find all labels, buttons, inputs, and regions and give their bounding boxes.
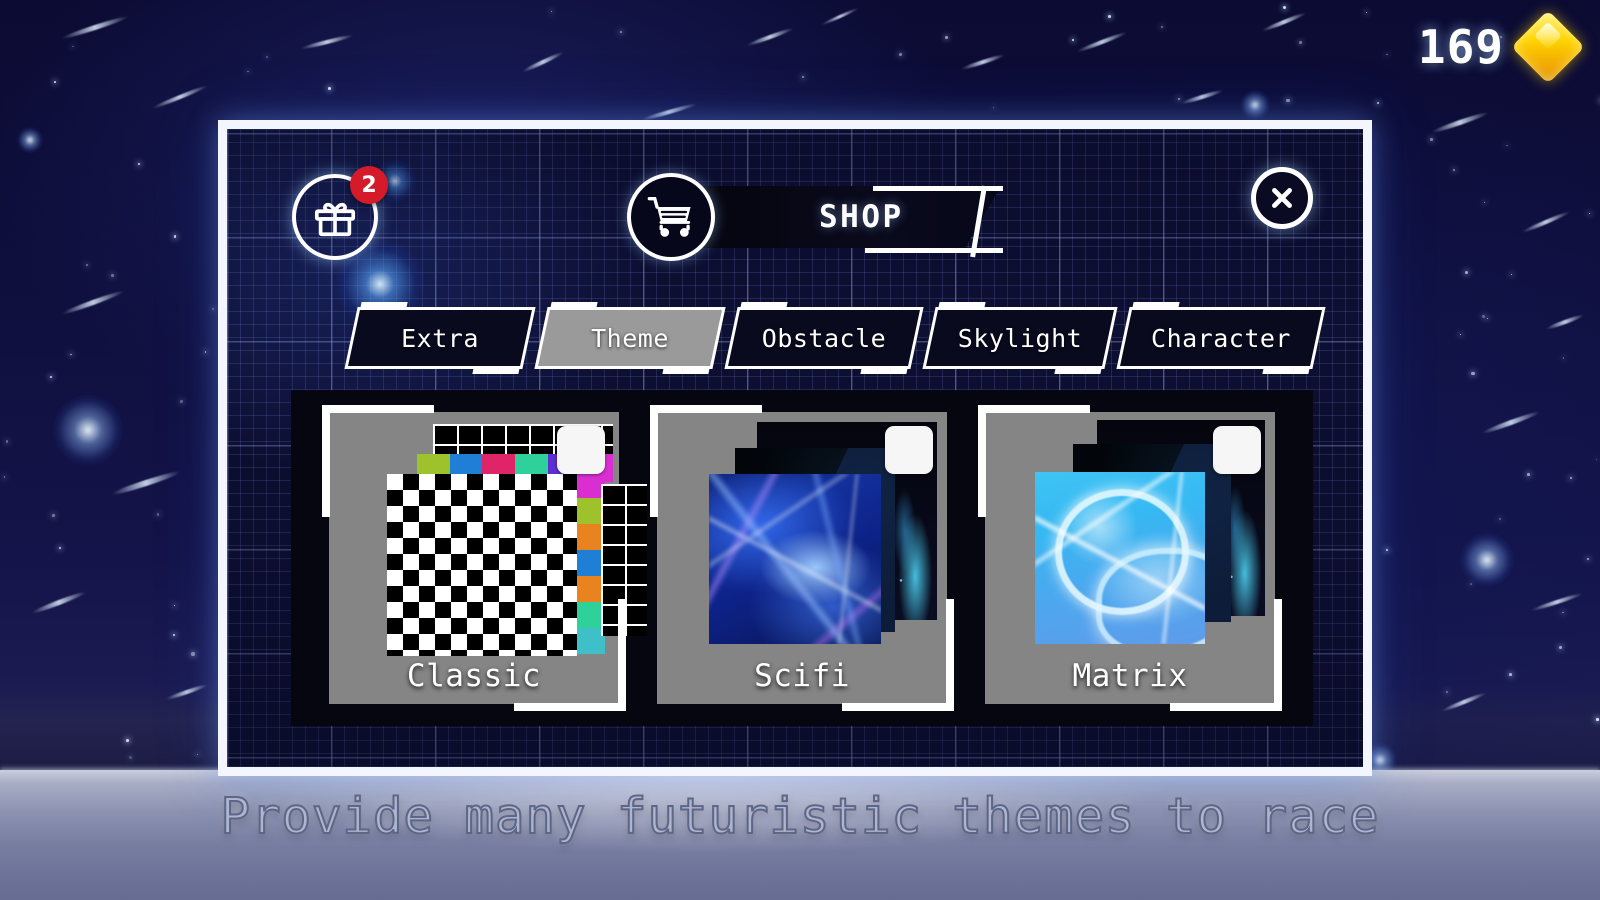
star-glow: [1460, 533, 1514, 587]
currency-display: 169: [1418, 20, 1574, 74]
gem-diamond-icon: [1511, 10, 1585, 84]
item-select-box[interactable]: [885, 426, 933, 474]
corner-bracket: [514, 703, 626, 711]
star-streak: [300, 34, 353, 51]
tab-skylight[interactable]: Skylight: [929, 307, 1111, 369]
star-streak: [31, 590, 87, 615]
corner-bracket: [946, 599, 954, 711]
preview-layer-checkerboard: [387, 474, 577, 656]
corner-bracket: [618, 599, 626, 711]
tab-label: Theme: [541, 307, 719, 369]
star-streak: [61, 14, 129, 40]
category-tabs: Extra Theme Obstacle Skylight Character: [351, 307, 1331, 369]
tab-label: Character: [1123, 307, 1319, 369]
star-streak: [1481, 410, 1541, 436]
shop-title-banner: SHOP: [701, 186, 1001, 248]
corner-bracket: [978, 405, 1090, 413]
corner-bracket: [322, 405, 330, 517]
star-streak: [1521, 210, 1570, 234]
corner-bracket: [650, 405, 658, 517]
star-streak: [151, 84, 208, 110]
star-streak: [641, 102, 698, 122]
caption-text: Provide many futuristic themes to race: [0, 788, 1600, 845]
preview-layer-plasma: [1035, 472, 1205, 644]
items-stage: Classic Scifi: [291, 390, 1313, 726]
corner-bracket: [322, 405, 434, 413]
item-select-box[interactable]: [557, 426, 605, 474]
nebula-streaks: [709, 474, 881, 644]
corner-bracket: [1170, 703, 1282, 711]
shopping-cart-button[interactable]: [627, 173, 715, 261]
tab-obstacle[interactable]: Obstacle: [731, 307, 917, 369]
corner-bracket: [1274, 599, 1282, 711]
gift-icon: [312, 194, 358, 240]
tab-label: Skylight: [929, 307, 1111, 369]
star-streak: [1076, 30, 1128, 53]
star-streak: [61, 289, 125, 316]
tab-label: Obstacle: [731, 307, 917, 369]
star-streak: [1441, 691, 1487, 713]
shop-header: SHOP: [627, 173, 1001, 261]
gift-button[interactable]: 2: [292, 174, 378, 260]
item-name: Classic: [329, 658, 619, 694]
star-streak: [111, 469, 181, 497]
star-streak: [1546, 313, 1585, 330]
item-name: Scifi: [657, 658, 947, 694]
star-streak: [166, 683, 209, 701]
shop-title: SHOP: [819, 199, 904, 235]
close-x-icon: [1269, 185, 1295, 211]
star-glow: [53, 395, 123, 465]
star-streak: [1180, 89, 1223, 106]
star-glow: [17, 127, 43, 153]
star-glow: [1240, 90, 1270, 120]
corner-bracket: [978, 405, 986, 517]
item-card-classic[interactable]: Classic: [329, 412, 619, 704]
item-card-scifi[interactable]: Scifi: [657, 412, 947, 704]
close-button[interactable]: [1251, 167, 1313, 229]
corner-bracket: [842, 703, 954, 711]
shop-panel: 2 SHOP: [218, 120, 1372, 776]
preview-layer-nebula: [709, 474, 881, 644]
item-card-matrix[interactable]: Matrix: [985, 412, 1275, 704]
items-row: Classic Scifi: [291, 390, 1313, 726]
plasma-streaks: [1035, 472, 1205, 644]
banner-edge-bottom: [865, 248, 1003, 253]
star-streak: [1531, 592, 1584, 612]
star-streak: [821, 7, 859, 26]
tab-extra[interactable]: Extra: [351, 307, 529, 369]
shopping-cart-icon: [646, 192, 696, 242]
star-streak: [521, 50, 564, 73]
tab-label: Extra: [351, 307, 529, 369]
star-streak: [961, 53, 1006, 71]
item-select-box[interactable]: [1213, 426, 1261, 474]
star-streak: [1431, 110, 1489, 134]
star-streak: [746, 27, 794, 48]
tab-character[interactable]: Character: [1123, 307, 1319, 369]
gift-badge-count: 2: [350, 166, 388, 204]
tab-theme[interactable]: Theme: [541, 307, 719, 369]
star-streak: [1261, 11, 1307, 33]
currency-amount: 169: [1418, 20, 1504, 74]
corner-bracket: [650, 405, 762, 413]
item-name: Matrix: [985, 658, 1275, 694]
